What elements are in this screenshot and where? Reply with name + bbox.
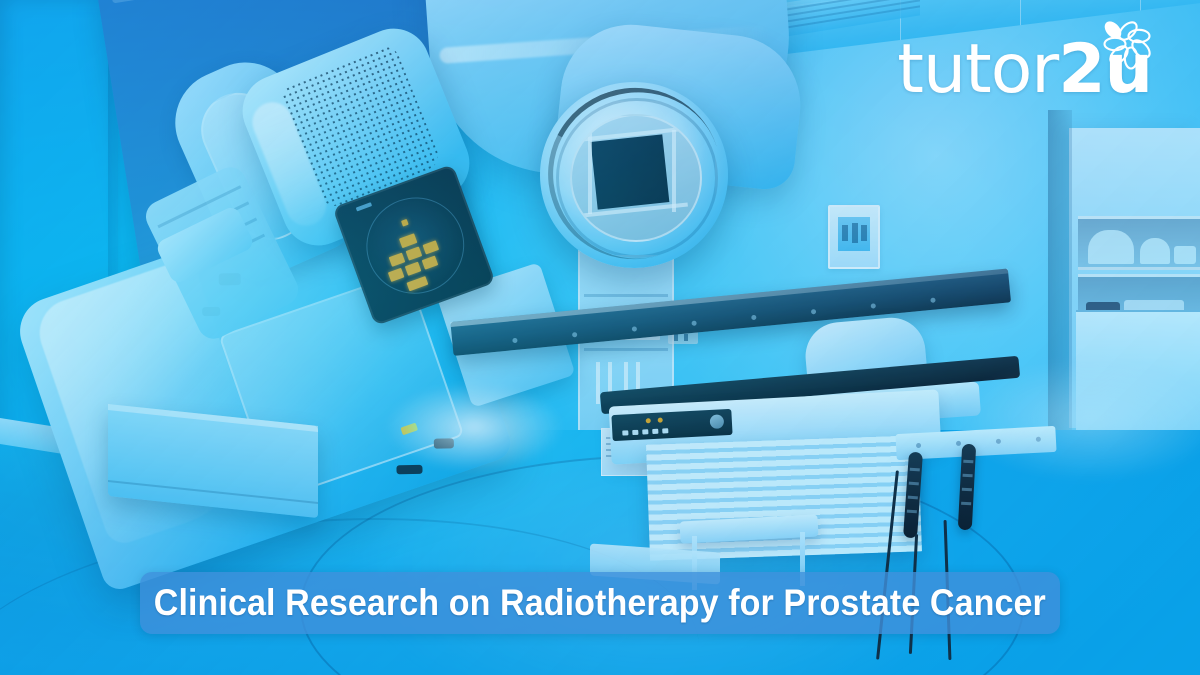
tutor2u-logo[interactable]: tutor2u — [897, 36, 1152, 104]
image-canvas: tutor2u Clinical Research on Radiotherap… — [0, 0, 1200, 675]
floor-glow — [960, 360, 1200, 480]
caption-bar: Clinical Research on Radiotherapy for Pr… — [140, 572, 1060, 634]
logo-text-light: tutor — [897, 30, 1058, 109]
flower-asterisk-icon — [1098, 14, 1158, 74]
highlight-glow — [384, 382, 564, 472]
wall-service-panel — [828, 205, 880, 269]
caption-title: Clinical Research on Radiotherapy for Pr… — [154, 583, 1046, 623]
portal-imager — [540, 82, 728, 268]
